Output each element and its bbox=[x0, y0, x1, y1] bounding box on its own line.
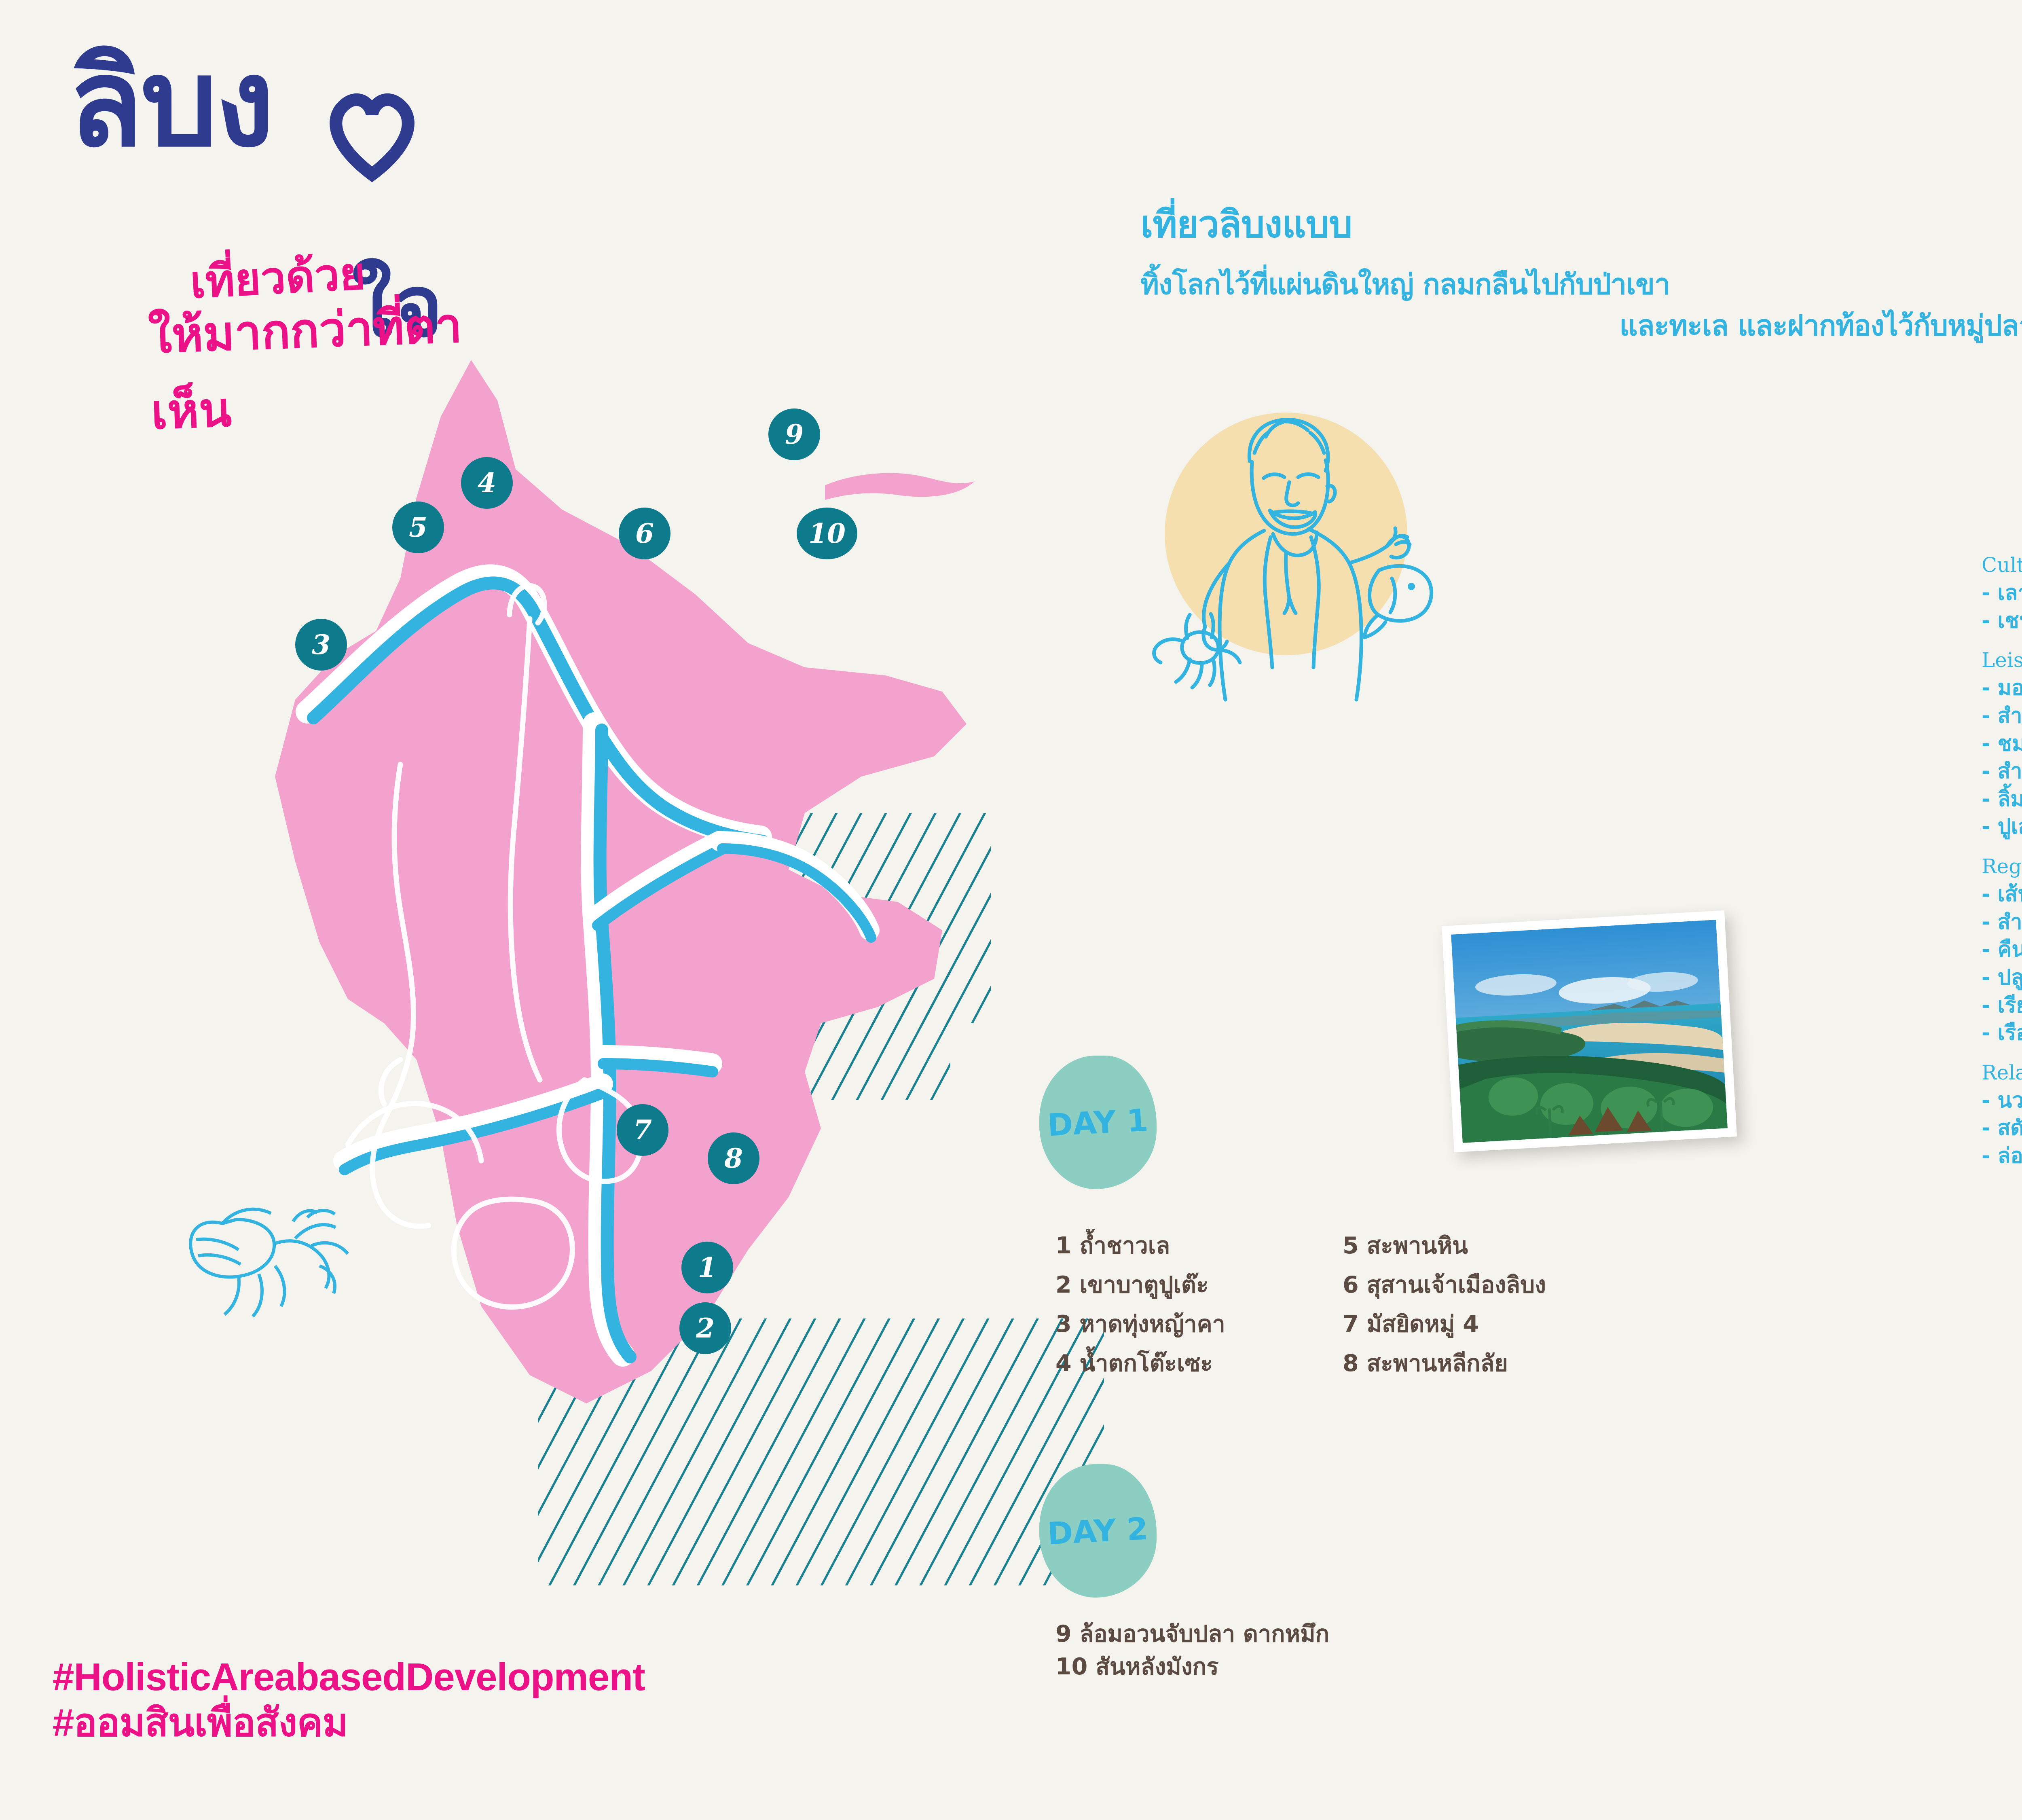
infographic-canvas: ลิบง ใจ เที่ยวด้วย ให้มากกว่าที่ตาเห็น ล… bbox=[0, 0, 2022, 1820]
hermit-crab-illustration bbox=[190, 1209, 348, 1316]
map-marker[interactable]: 7 bbox=[617, 1104, 668, 1156]
local-fisherman-illustration bbox=[1128, 376, 1436, 704]
legend-item: 9 ล้อมอวนจับปลา ดากหมึก bbox=[1055, 1618, 1743, 1651]
legend-item: 2 เขาบาตูปูเต๊ะ bbox=[1055, 1269, 1314, 1302]
legend-item: 10 สันหลังมังกร bbox=[1055, 1651, 1743, 1683]
legend-item: 6 สุสานเจ้าเมืองลิบง bbox=[1343, 1269, 1743, 1302]
activity-row: - ปลูกป่าชายเลน 3 ชั่วโมง bbox=[1982, 964, 2022, 992]
day2-legend: 9 ล้อมอวนจับปลา ดากหมึก 10 สันหลังมังกร bbox=[1055, 1618, 1743, 1683]
legend-item: 7 มัสยิดหมู่ 4 bbox=[1343, 1308, 1743, 1341]
brand-logo-thai: ลิบง bbox=[69, 49, 514, 158]
activity-label: - นวดน้ำมันกาหมาด ของดีเกาะลิบง bbox=[1982, 1087, 2022, 1115]
activity-label: - เลาะริมหาด ล่าหาหอย bbox=[1982, 579, 2022, 607]
marker-number: 5 bbox=[409, 512, 427, 543]
activity-group-title: Cultural Activities bbox=[1982, 553, 2022, 577]
marker-number: 2 bbox=[696, 1312, 715, 1344]
activity-group: Relaxing Activities - นวดน้ำมันกาหมาด ขอ… bbox=[1982, 1061, 2022, 1170]
map-marker[interactable]: 1 bbox=[681, 1242, 733, 1293]
photo-lagoon bbox=[1442, 910, 1737, 1152]
islet-dragon bbox=[825, 473, 975, 500]
map-marker[interactable]: 2 bbox=[679, 1302, 731, 1354]
hashtags-block: #HolisticAreabasedDevelopment #ออมสินเพื… bbox=[53, 1654, 645, 1746]
headline-line-2: ทิ้งโลกไว้ที่แผ่นดินใหญ่ กลมกลืนไปกับป่า… bbox=[1140, 264, 2022, 305]
activity-group-title: Relaxing Activities bbox=[1982, 1061, 2022, 1084]
headline-line-1: เที่ยวลิบงแบบ bbox=[1140, 194, 2022, 254]
activity-row: - สำรวจแหล่งหญ้าทะเล และพะยูน 4 ชั่วโมง bbox=[1982, 908, 2022, 936]
legend-item: 1 ถ้ำชาวเล bbox=[1055, 1230, 1314, 1262]
marker-number: 8 bbox=[724, 1143, 743, 1174]
activity-row: - เส้นทางประวัติศาสตร์เกาะลิบง 3 ชั่วโมง bbox=[1982, 880, 2022, 908]
heart-icon bbox=[319, 89, 425, 186]
activity-group: Cultural Activities - เลาะริมหาด ล่าหาหอ… bbox=[1982, 553, 2022, 635]
activity-label: - สำรวจถ้ำเขาบาตูปูเต๊ะ และถ้ำอื่นๆ bbox=[1982, 702, 2022, 730]
activity-label: - เรียนรู้การเพิ่มมูลค่าวัสดุเหลือใช้ bbox=[1982, 992, 2022, 1020]
activity-label: - คืนหาดทรายที่สะอาดให้ลิบง bbox=[1982, 936, 2022, 964]
marker-number: 4 bbox=[478, 467, 496, 499]
activity-row: - เรือหัวโทง เอกลักษณ์คู่ทะเลอันดามัน 2 … bbox=[1982, 1019, 2022, 1047]
activities-note: (เลือกได้มากกว่า 1 กิจกรรม และรวมกันไม่เ… bbox=[1982, 510, 2022, 540]
activities-title: Travel Activities List bbox=[1982, 441, 2022, 501]
legend-item: 3 หาดทุ่งหญ้าคา bbox=[1055, 1308, 1314, 1341]
activity-label: - ลิ้มรสอาหารทะเลตามแบบฉบับชาวเล bbox=[1982, 785, 2022, 813]
activity-label: - สำรวจแหล่งหญ้าทะเล และพะยูน bbox=[1982, 908, 2022, 936]
activity-row: - ลิ้มรสอาหารทะเลตามแบบฉบับชาวเล 2 ชั่วโ… bbox=[1982, 785, 2022, 813]
map-marker[interactable]: 4 bbox=[461, 457, 513, 509]
headline-line-3: และทะเล และฝากท้องไว้กับหมู่ปลา bbox=[1140, 305, 2022, 347]
activity-row: - ล่องเรือทานอาหารทะเล 4 ชั่วโมง bbox=[1982, 1142, 2022, 1170]
activity-label: - สำรวจตลาดเกาะลิบง bbox=[1982, 758, 2022, 785]
activity-label: - สดับเสียงเพลงท้องถิ่น bbox=[1982, 1114, 2022, 1142]
activity-row: - คืนหาดทรายที่สะอาดให้ลิบง 2 ชั่วโมง bbox=[1982, 936, 2022, 964]
libong-island-map: 9 4 5 6 10 3 7 8 1 2 bbox=[174, 336, 1266, 1589]
marker-number: 10 bbox=[808, 518, 846, 549]
marker-number: 6 bbox=[635, 518, 654, 549]
marker-number: 3 bbox=[312, 629, 330, 660]
day2-badge: DAY 2 bbox=[1039, 1464, 1157, 1598]
activities-panel: Travel Activities List (เลือกได้มากกว่า … bbox=[1982, 441, 2022, 1170]
day1-label: DAY 1 bbox=[1047, 1102, 1149, 1143]
marker-number: 9 bbox=[785, 419, 804, 450]
activity-label: - ปลูกป่าชายเลน bbox=[1982, 964, 2022, 992]
map-marker[interactable]: 3 bbox=[295, 619, 347, 671]
brand-logo: ลิบง ใจ เที่ยวด้วย ให้มากกว่าที่ตาเห็น bbox=[69, 49, 514, 356]
map-marker[interactable]: 10 bbox=[797, 508, 857, 559]
day1-legend: 1 ถ้ำชาวเล 5 สะพานหิน 2 เขาบาตูปูเต๊ะ 6 … bbox=[1055, 1230, 1743, 1380]
activity-label: - มองผ่านกล้อง ส่องดูนกอพยพ bbox=[1982, 674, 2022, 702]
activity-group-title: Regenerative Activities bbox=[1982, 855, 2022, 878]
activity-row: - เรียนรู้การเพิ่มมูลค่าวัสดุเหลือใช้ 2 … bbox=[1982, 992, 2022, 1020]
legend-item: 5 สะพานหิน bbox=[1343, 1230, 1743, 1262]
activity-label: - ชมถ้ำมรกต เกาะมุก เกาะกระดาน bbox=[1982, 730, 2022, 758]
legend-item: 8 สะพานหลีกลัย bbox=[1343, 1347, 1743, 1380]
activity-row: - สำรวจตลาดเกาะลิบง 2 ชั่วโมง bbox=[1982, 758, 2022, 785]
photo-lagoon-image bbox=[1451, 920, 1728, 1143]
activity-group-title: Leisure Activities bbox=[1982, 648, 2022, 672]
legend-item: 4 น้ำตกโต๊ะเซะ bbox=[1055, 1347, 1314, 1380]
headline-block: เที่ยวลิบงแบบ ทิ้งโลกไว้ที่แผ่นดินใหญ่ ก… bbox=[1140, 194, 2022, 346]
day2-label: DAY 2 bbox=[1047, 1510, 1149, 1551]
activity-row: - ปูเสฉวนตัวใหญ่ เทศบาลแห่งชายหาด 2 ชั่ว… bbox=[1982, 813, 2022, 841]
activity-label: - ล่องเรือทานอาหารทะเล bbox=[1982, 1142, 2022, 1170]
activity-label: - เรือหัวโทง เอกลักษณ์คู่ทะเลอันดามัน bbox=[1982, 1019, 2022, 1047]
activity-row: - เชฟกระทะเหล็กเกาะลิบง 2 ชั่วโมง bbox=[1982, 607, 2022, 635]
map-marker[interactable]: 5 bbox=[392, 502, 444, 553]
activity-row: - ชมถ้ำมรกต เกาะมุก เกาะกระดาน 4 ชั่วโมง bbox=[1982, 730, 2022, 758]
map-marker[interactable]: 6 bbox=[619, 508, 670, 559]
activity-group: Regenerative Activities - เส้นทางประวัติ… bbox=[1982, 855, 2022, 1047]
map-marker[interactable]: 8 bbox=[708, 1132, 759, 1184]
day1-badge: DAY 1 bbox=[1039, 1056, 1157, 1189]
activity-group: Leisure Activities - มองผ่านกล้อง ส่องดู… bbox=[1982, 648, 2022, 841]
activity-label: - เส้นทางประวัติศาสตร์เกาะลิบง bbox=[1982, 880, 2022, 908]
activity-label: - เชฟกระทะเหล็กเกาะลิบง bbox=[1982, 607, 2022, 635]
hashtag: #HolisticAreabasedDevelopment bbox=[53, 1654, 645, 1700]
marker-number: 1 bbox=[698, 1252, 717, 1283]
activity-label: - ปูเสฉวนตัวใหญ่ เทศบาลแห่งชายหาด bbox=[1982, 813, 2022, 841]
map-graphic bbox=[174, 336, 1266, 1589]
activity-row: - มองผ่านกล้อง ส่องดูนกอพยพ 2 ชั่วโมง bbox=[1982, 674, 2022, 702]
map-marker[interactable]: 9 bbox=[768, 408, 820, 460]
activity-row: - สำรวจถ้ำเขาบาตูปูเต๊ะ และถ้ำอื่นๆ 3 ชั… bbox=[1982, 702, 2022, 730]
activity-row: - สดับเสียงเพลงท้องถิ่น 1 ชั่วโมง bbox=[1982, 1114, 2022, 1142]
activity-row: - นวดน้ำมันกาหมาด ของดีเกาะลิบง 1 ชั่วโม… bbox=[1982, 1087, 2022, 1115]
hashtag: #ออมสินเพื่อสังคม bbox=[53, 1700, 645, 1746]
activity-row: - เลาะริมหาด ล่าหาหอย 2 ชั่วโมง bbox=[1982, 579, 2022, 607]
marker-number: 7 bbox=[633, 1114, 652, 1146]
